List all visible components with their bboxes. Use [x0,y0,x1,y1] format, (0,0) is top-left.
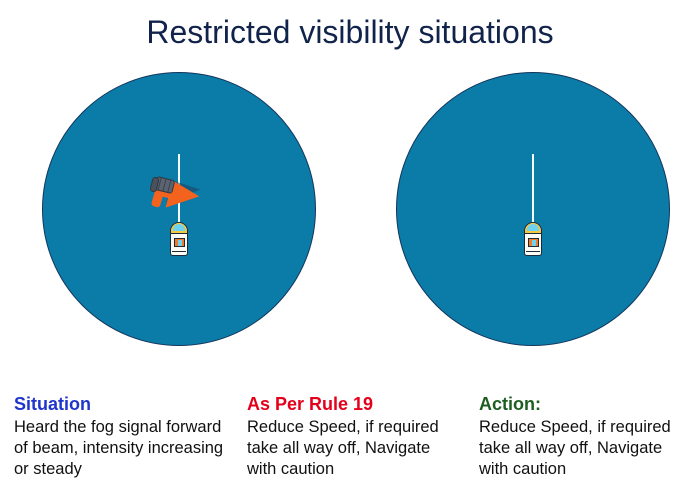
vessel-stern [526,251,540,252]
rule-body: Reduce Speed, if required take all way o… [247,417,462,480]
situation-heading: Situation [14,392,229,416]
vessel-hull [524,222,542,256]
slide-canvas: Restricted visibility situations [0,0,700,500]
action-heading: Action: [479,392,694,416]
vessel-hull [170,222,188,256]
vessel-bow-deck [524,222,542,234]
rule-column: As Per Rule 19 Reduce Speed, if required… [247,392,462,480]
left-situation-circle [42,72,316,346]
vessel-bridge [174,238,185,247]
vessel-stern [172,251,186,252]
action-body: Reduce Speed, if required take all way o… [479,417,694,480]
page-title: Restricted visibility situations [0,12,700,52]
vessel-bridge [528,238,539,247]
vessel-bow-deck [170,222,188,234]
situation-column: Situation Heard the fog signal forward o… [14,392,229,480]
rule-heading: As Per Rule 19 [247,392,462,416]
heading-line [532,154,534,229]
action-column: Action: Reduce Speed, if required take a… [479,392,694,480]
megaphone-icon [149,173,205,221]
own-vessel-icon [522,154,544,264]
right-situation-circle [396,72,670,346]
situation-body: Heard the fog signal forward of beam, in… [14,417,229,480]
